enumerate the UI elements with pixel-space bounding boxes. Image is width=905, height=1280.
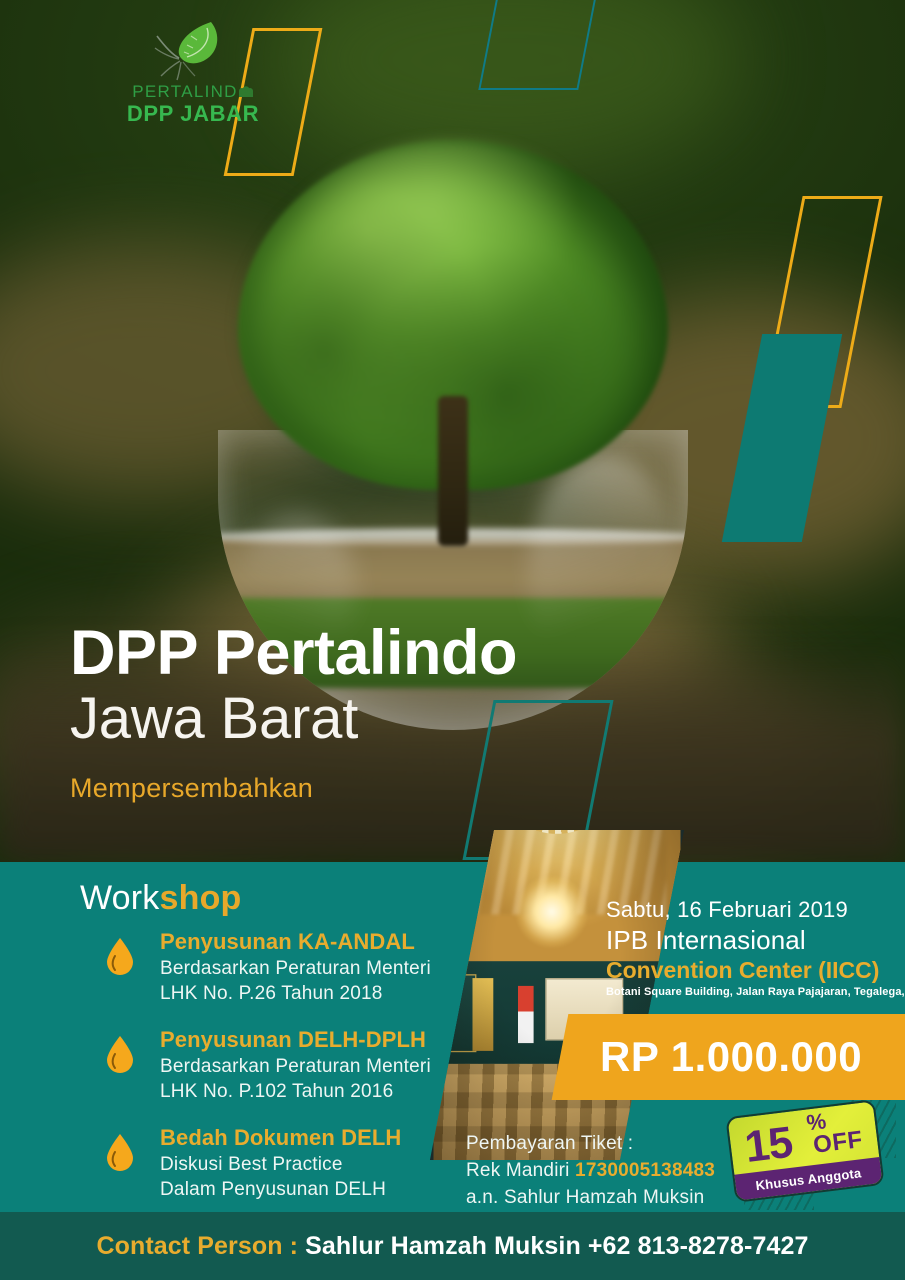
logo-line-2: DPP JABAR [118, 102, 268, 126]
payment-account: Rek Mandiri 1730005138483 [466, 1157, 766, 1184]
event-address: Botani Square Building, Jalan Raya Pajaj… [606, 984, 896, 1000]
poster-presents-label: Mempersembahkan [70, 770, 517, 806]
discount-badge: 15 % OFF Khusus Anggota [722, 1100, 892, 1204]
contact-label: Contact Person : [96, 1232, 305, 1260]
contact-bar: Contact Person : Sahlur Hamzah Muksin +6… [0, 1212, 905, 1280]
bush-icon [238, 83, 254, 95]
logo-line-1: PERTALIND [118, 82, 268, 102]
list-item: Bedah Dokumen DELH Diskusi Best Practice… [104, 1124, 484, 1202]
poster-subtitle: Jawa Barat [70, 686, 517, 752]
event-date: Sabtu, 16 Februari 2019 [606, 896, 896, 924]
discount-off-label: OFF [812, 1127, 864, 1159]
decorative-parallelogram-teal-topright [478, 0, 597, 90]
hero-text-block: DPP Pertalindo Jawa Barat Mempersembahka… [70, 618, 517, 806]
droplet-icon [104, 1132, 136, 1172]
event-poster: PERTALIND DPP JABAR DPP Pertalindo Jawa … [0, 0, 905, 1280]
workshop-item-line2: LHK No. P.26 Tahun 2018 [160, 981, 484, 1006]
workshop-item-title: Penyusunan KA-ANDAL [160, 928, 484, 956]
event-venue-line1: IPB Internasional [606, 924, 896, 956]
payment-label: Pembayaran Tiket : [466, 1130, 766, 1157]
workshop-item-title: Penyusunan DELH-DPLH [160, 1026, 484, 1054]
tree-illustration [238, 140, 668, 560]
workshop-heading: Workshop [80, 878, 242, 918]
contact-text: Contact Person : Sahlur Hamzah Muksin +6… [96, 1231, 808, 1261]
droplet-icon [104, 1034, 136, 1074]
discount-number: 15 [742, 1118, 795, 1173]
workshop-item-line1: Berdasarkan Peraturan Menteri [160, 956, 484, 981]
workshop-list: Penyusunan KA-ANDAL Berdasarkan Peratura… [104, 928, 484, 1222]
workshop-item-line2: Dalam Penyusunan DELH [160, 1177, 484, 1202]
leaf-sprout-icon [118, 18, 268, 82]
list-item: Penyusunan KA-ANDAL Berdasarkan Peratura… [104, 928, 484, 1006]
contact-value: Sahlur Hamzah Muksin +62 813-8278-7427 [305, 1232, 808, 1260]
payment-info: Pembayaran Tiket : Rek Mandiri 173000513… [466, 1130, 766, 1211]
pertalindo-logo: PERTALIND DPP JABAR [118, 18, 268, 126]
workshop-item-line2: LHK No. P.102 Tahun 2016 [160, 1079, 484, 1104]
poster-title: DPP Pertalindo [70, 618, 517, 688]
list-item: Penyusunan DELH-DPLH Berdasarkan Peratur… [104, 1026, 484, 1104]
ticket-price: RP 1.000.000 [600, 1028, 905, 1086]
payment-account-name: a.n. Sahlur Hamzah Muksin [466, 1184, 766, 1211]
event-info-block: Sabtu, 16 Februari 2019 IPB Internasiona… [606, 896, 896, 1000]
droplet-icon [104, 936, 136, 976]
workshop-item-line1: Berdasarkan Peraturan Menteri [160, 1054, 484, 1079]
event-venue-line2: Convention Center (IICC) [606, 956, 896, 984]
